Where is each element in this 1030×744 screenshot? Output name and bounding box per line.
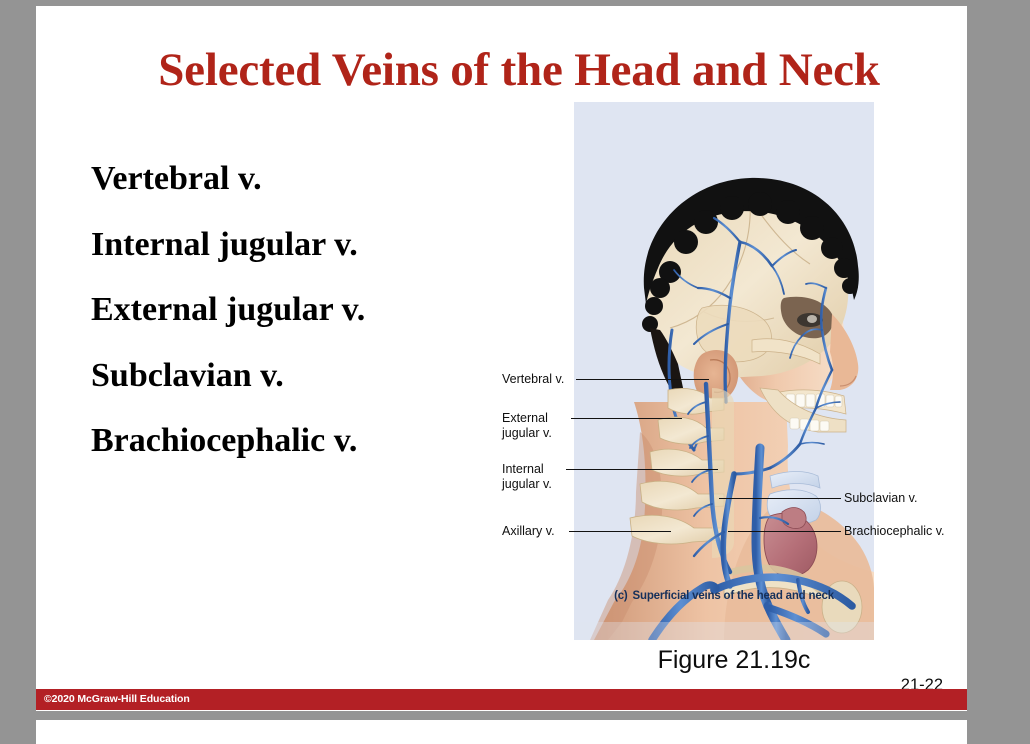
label-vertebral-vein: Vertebral v. <box>502 372 564 387</box>
leader-line-subclavian <box>719 498 841 499</box>
presentation-viewport: Selected Veins of the Head and Neck Vert… <box>0 0 1030 744</box>
copyright-text: ©2020 McGraw-Hill Education <box>44 693 190 705</box>
next-slide-preview[interactable] <box>36 720 967 744</box>
label-axillary-vein: Axillary v. <box>502 524 555 539</box>
figure-number: Figure 21.19c <box>574 646 894 675</box>
label-internal-jugular-vein: Internal jugular v. <box>502 462 552 492</box>
page-title: Selected Veins of the Head and Neck <box>94 42 944 98</box>
label-subclavian-vein: Subclavian v. <box>844 491 917 506</box>
list-item: Brachiocephalic v. <box>91 408 541 474</box>
leader-line-axillary <box>569 531 671 532</box>
label-brachiocephalic-vein: Brachiocephalic v. <box>844 524 945 539</box>
figure-caption-text: Superficial veins of the head and neck <box>633 590 834 602</box>
leader-line-vertebral <box>576 379 709 380</box>
leader-line-brachiocephalic <box>728 531 841 532</box>
list-item: Subclavian v. <box>91 343 541 409</box>
leader-line-internal-jugular <box>566 469 718 470</box>
figure-caption-part: (c) <box>614 590 627 602</box>
label-external-jugular-vein: External jugular v. <box>502 411 552 441</box>
list-item: Internal jugular v. <box>91 212 541 278</box>
footer-bar: ©2020 McGraw-Hill Education <box>36 689 967 710</box>
list-item: External jugular v. <box>91 277 541 343</box>
leader-line-external-jugular <box>571 418 682 419</box>
anatomy-figure-panel: (c)Superficial veins of the head and nec… <box>574 102 874 640</box>
veins-list: Vertebral v. Internal jugular v. Externa… <box>91 146 541 474</box>
head-neck-veins-illustration <box>574 102 874 640</box>
slide: Selected Veins of the Head and Neck Vert… <box>36 6 967 711</box>
list-item: Vertebral v. <box>91 146 541 212</box>
figure-caption: (c)Superficial veins of the head and nec… <box>574 590 874 602</box>
